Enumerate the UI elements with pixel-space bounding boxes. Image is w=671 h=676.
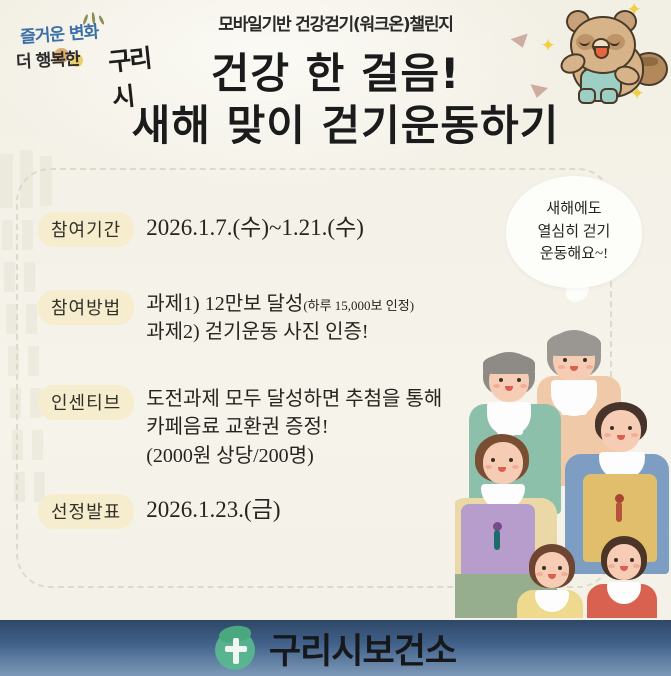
row-value-incentive: 도전과제 모두 달성하면 추첨을 통해 카페음료 교환권 증정! (2000원 … bbox=[146, 385, 442, 470]
row-value-period: 2026.1.7.(수)~1.21.(수) bbox=[146, 212, 364, 245]
method-task-1-note: (하루 15,000보 인정) bbox=[303, 298, 414, 313]
info-row-method: 참여방법 과제1) 12만보 달성(하루 15,000보 인정) 과제2) 걷기… bbox=[38, 290, 414, 347]
row-label-incentive: 인센티브 bbox=[38, 385, 134, 420]
poster-header: 즐거운 변화 더 행복한 구리시 모바일기반 건강걷기(워크온)챌린지 건강 한… bbox=[0, 0, 671, 160]
row-label-method: 참여방법 bbox=[38, 290, 134, 325]
hanbok-family-illustration bbox=[455, 318, 671, 618]
incentive-line-1: 도전과제 모두 달성하면 추첨을 통해 bbox=[146, 385, 442, 413]
info-row-announcement: 선정발표 2026.1.23.(금) bbox=[38, 494, 280, 529]
poster-canvas: 즐거운 변화 더 행복한 구리시 모바일기반 건강걷기(워크온)챌린지 건강 한… bbox=[0, 0, 671, 676]
speech-bubble-text: 새해에도 열심히 걷기 운동해요~! bbox=[538, 198, 611, 266]
info-row-period: 참여기간 2026.1.7.(수)~1.21.(수) bbox=[38, 212, 364, 247]
row-label-period: 참여기간 bbox=[38, 212, 134, 247]
health-center-cross-icon bbox=[215, 626, 259, 670]
info-row-incentive: 인센티브 도전과제 모두 달성하면 추첨을 통해 카페음료 교환권 증정! (2… bbox=[38, 385, 442, 470]
bubble-line-1: 새해에도 bbox=[538, 198, 611, 221]
incentive-line-3: (2000원 상당/200명) bbox=[146, 442, 442, 470]
row-label-announcement: 선정발표 bbox=[38, 494, 134, 529]
row-value-announcement: 2026.1.23.(금) bbox=[146, 494, 280, 527]
footer-organization-name: 구리시보건소 bbox=[269, 623, 456, 674]
poster-footer: 구리시보건소 bbox=[0, 620, 671, 676]
bubble-line-3: 운동해요~! bbox=[538, 243, 611, 266]
method-task-1: 과제1) 12만보 달성 bbox=[146, 293, 303, 315]
incentive-line-2: 카페음료 교환권 증정! bbox=[146, 413, 442, 441]
sparkle-icon: ✦ bbox=[541, 38, 555, 55]
row-value-method: 과제1) 12만보 달성(하루 15,000보 인정) 과제2) 걷기운동 사진… bbox=[146, 290, 414, 347]
bubble-line-2: 열심히 걷기 bbox=[538, 221, 611, 244]
speech-bubble: 새해에도 열심히 걷기 운동해요~! bbox=[506, 176, 642, 288]
raccoon-mascot-icon bbox=[556, 8, 664, 104]
method-task-2: 과제2) 걷기운동 사진 인증! bbox=[146, 318, 414, 346]
